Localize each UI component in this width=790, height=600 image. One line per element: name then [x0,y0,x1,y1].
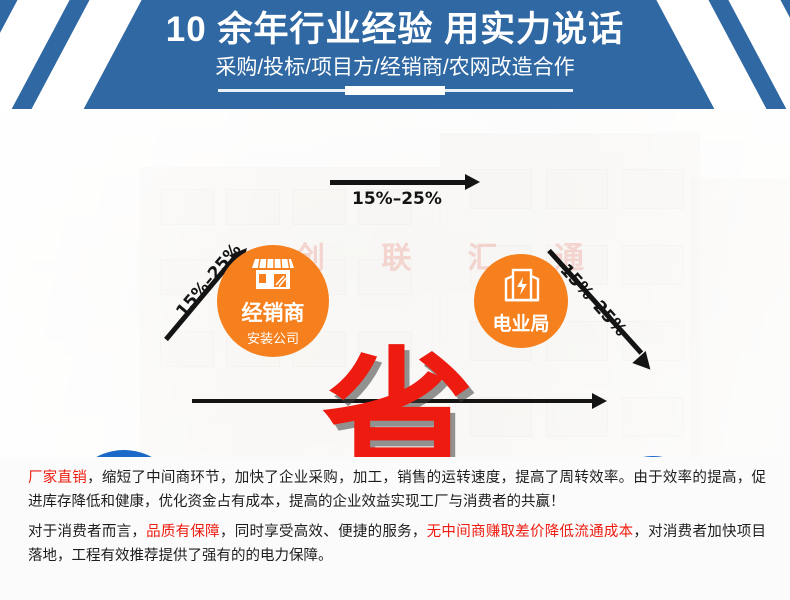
paragraph-two: 对于消费者而言，品质有保障，同时享受高效、便捷的服务，无中间商赚取差价降低流通成… [28,520,766,568]
footer-text-block: 厂家直销，缩短了中间商环节，加快了企业采购，加工，销售的运转速度，提高了周转效率… [0,457,790,600]
arrow-dealer-to-power-line [330,180,466,185]
header-title: 10 余年行业经验 用实力说话 [0,9,790,51]
arrow-dealer-to-power-head [465,174,480,190]
storefront-icon [251,256,295,295]
promo-banner: 10 余年行业经验 用实力说话 采购/投标/项目方/经销商/农网改造合作 [0,0,790,600]
node-dealer-label: 经销商 [242,297,305,327]
paragraph-two-highlight-2: 无中间商赚取差价降低流通成本 [427,524,634,540]
paragraph-one-body: ，缩短了中间商环节，加快了企业采购，加工，销售的运转速度，提高了周转效率。由于效… [28,470,766,510]
node-power-bureau[interactable]: 电业局 [474,254,568,348]
paragraph-two-highlight-1: 品质有保障 [146,524,220,540]
big-save-character: 省 [322,346,474,457]
arrow-brand-to-consumer-head [592,393,607,409]
diagram-stage: 创 联 汇 通 省 15%–25% 15%–25% 15%–25% 在这里省了中… [0,109,790,457]
header-divider-center [345,86,445,95]
power-building-icon [501,266,541,307]
header-banner: 10 余年行业经验 用实力说话 采购/投标/项目方/经销商/农网改造合作 [0,0,790,109]
header-subtitle: 采购/投标/项目方/经销商/农网改造合作 [0,55,790,81]
paragraph-two-lead: 对于消费者而言， [28,524,146,540]
paragraph-two-mid: ，同时享受高效、便捷的服务， [220,524,427,540]
node-power-bureau-label: 电业局 [492,309,549,336]
paragraph-one: 厂家直销，缩短了中间商环节，加快了企业采购，加工，销售的运转速度，提高了周转效率… [28,466,766,514]
node-dealer-sublabel: 安装公司 [247,328,299,347]
arrow-label-dealer-to-power: 15%–25% [352,189,442,209]
paragraph-one-highlight: 厂家直销 [28,470,87,486]
